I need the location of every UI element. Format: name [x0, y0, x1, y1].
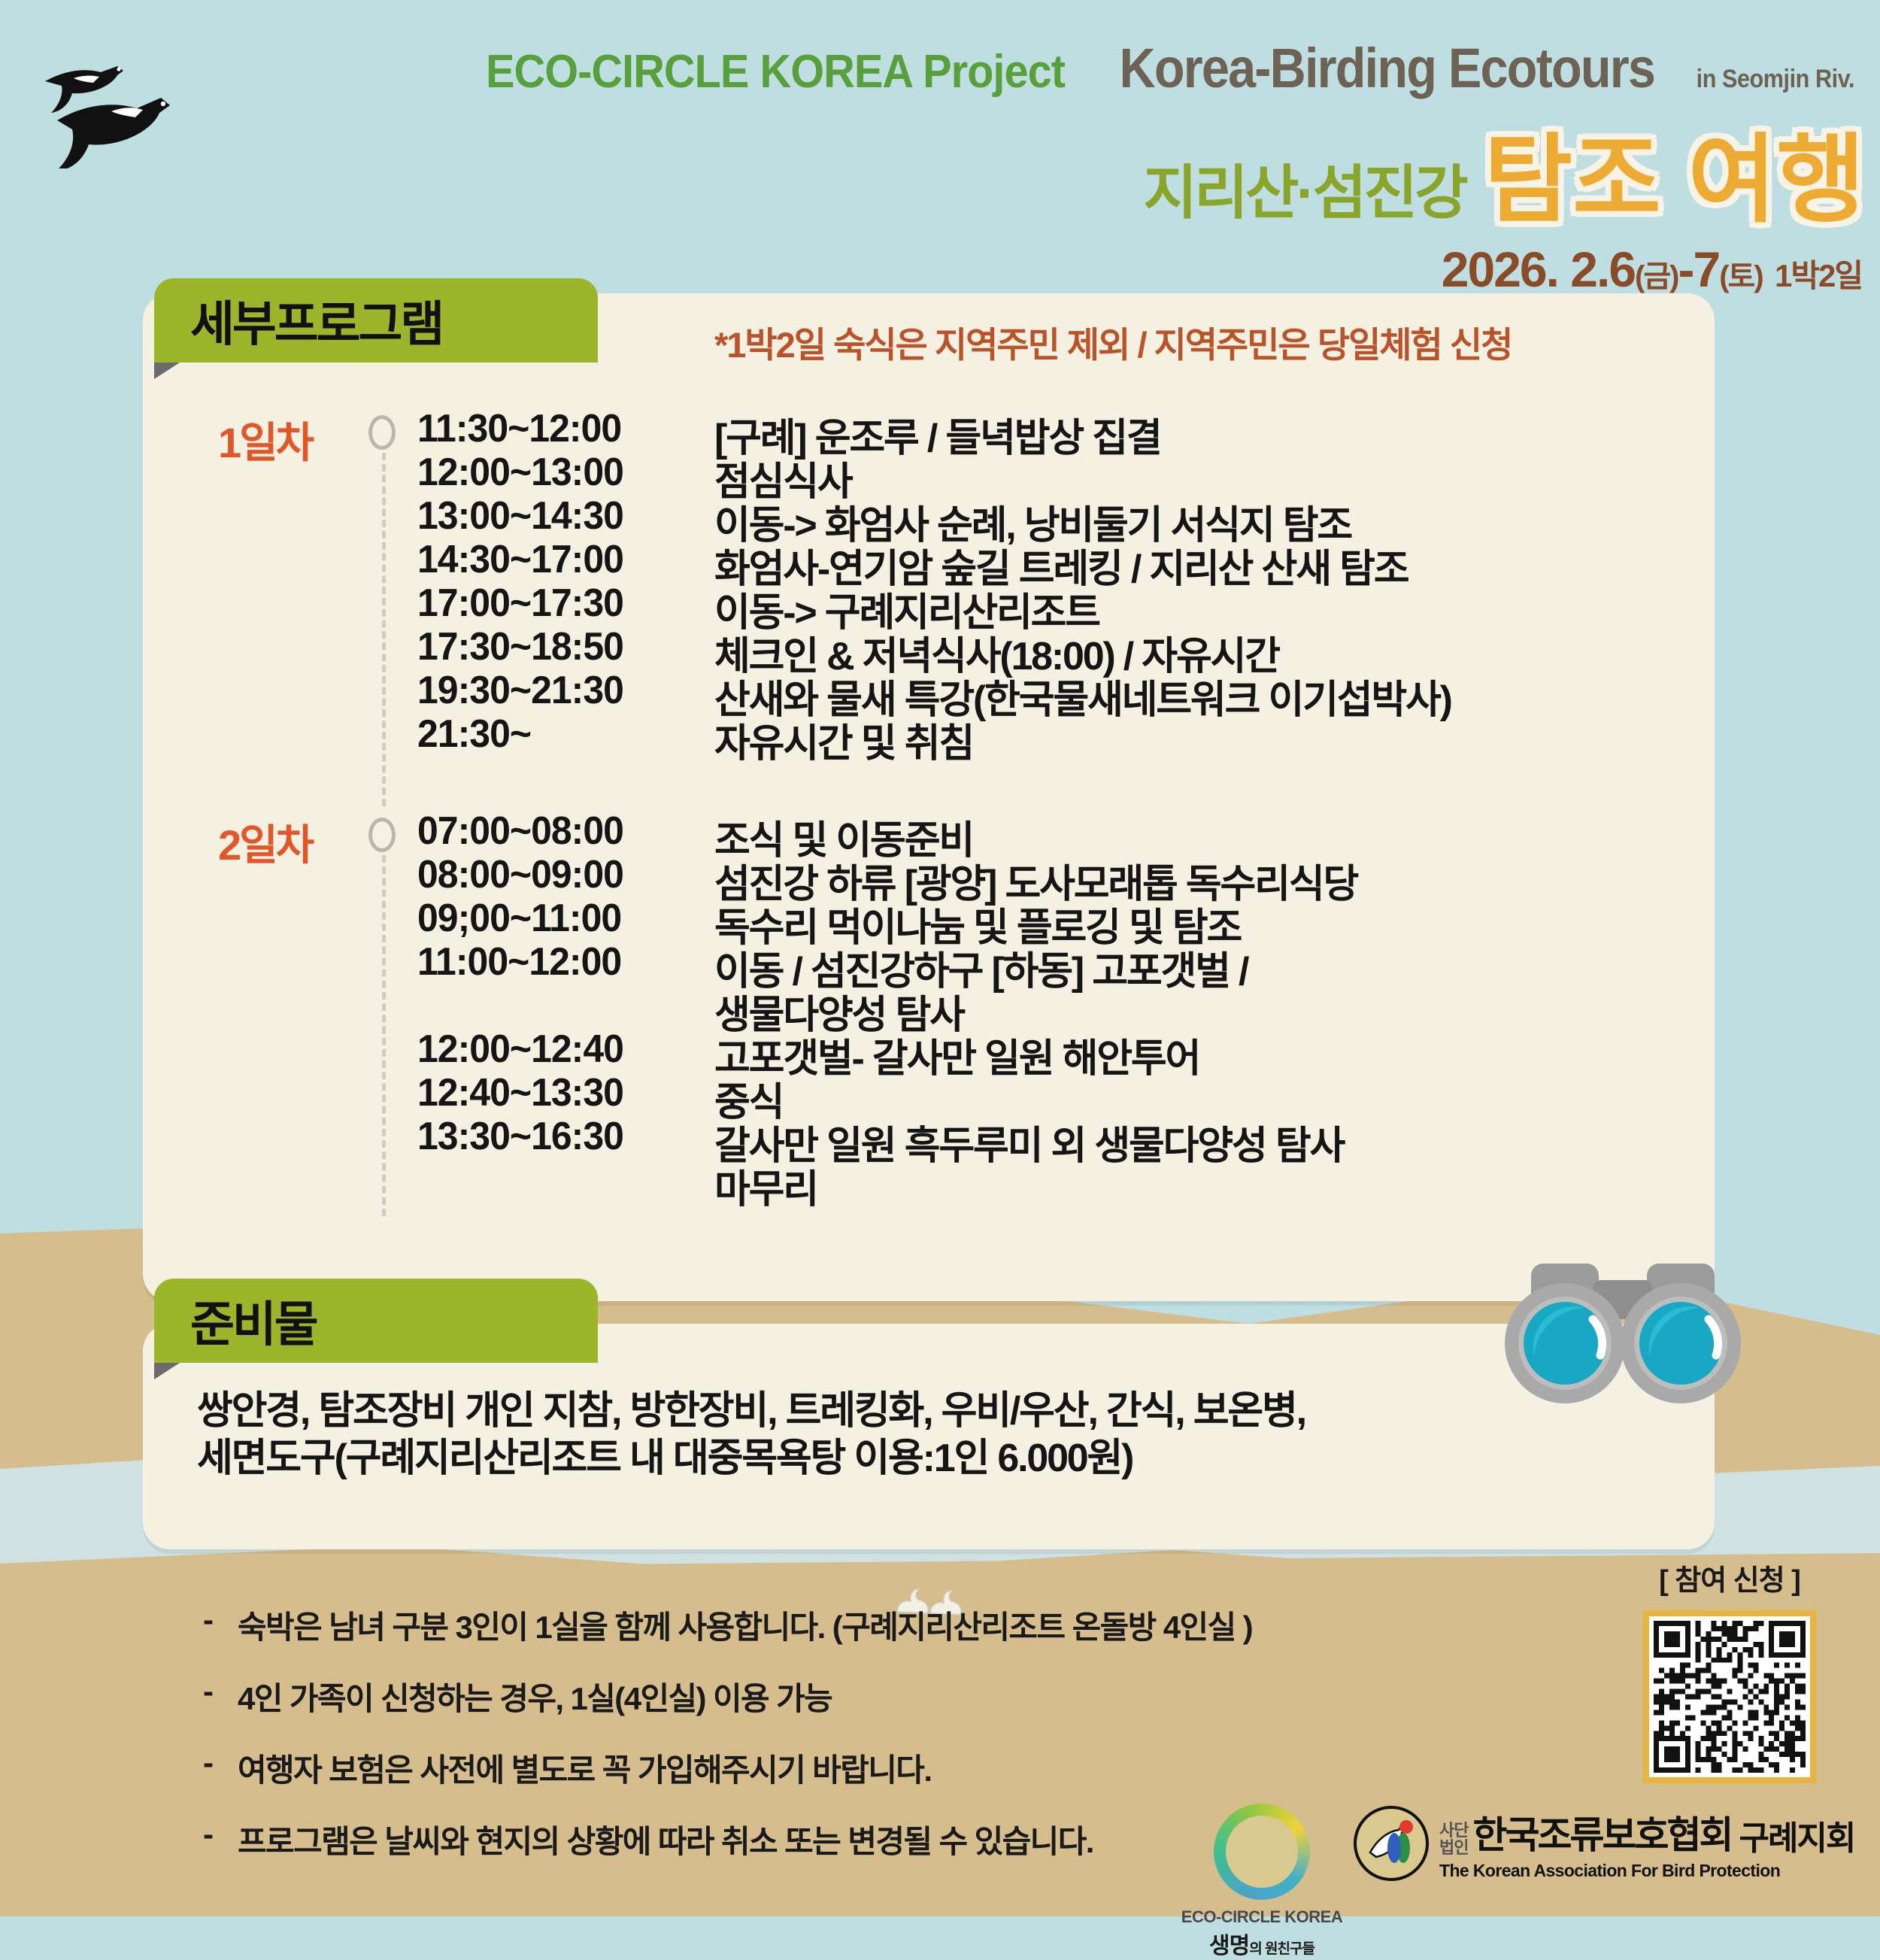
schedule-row-time: 17:00~17:30 — [417, 581, 702, 626]
schedule-row-desc: 고포갯벌- 갈사만 일원 해안투어 — [714, 1027, 1199, 1083]
qr-frame[interactable] — [1643, 1610, 1816, 1783]
qr-title: [ 참여 신청 ] — [1617, 1557, 1842, 1598]
schedule-row: 17:30~18:50체크인 & 저녁식사(18:00) / 자유시간 — [417, 624, 1451, 668]
logo-korean-bird-protection: 사단 법인 한국조류보호협회 구례지회 The Korean Associati… — [1354, 1805, 1854, 1881]
note-item: -여행자 보험은 사전에 별도로 꼭 가입해주시기 바랍니다. — [203, 1745, 1481, 1791]
day2-rows: 07:00~08:00조식 및 이동준비08:00~09:00섬진강 하류 [광… — [417, 809, 1357, 1201]
date-duration: 1박2일 — [1775, 258, 1862, 293]
schedule-row-time: 11:30~12:00 — [417, 406, 702, 451]
eco-logo-kr: 생명의 원친구들 — [1179, 1927, 1345, 1960]
schedule-row: 13:00~14:30이동-> 화엄사 순례, 낭비둘기 서식지 탐조 — [417, 493, 1451, 537]
eco-logo-kr-sub2: 친구들 — [1278, 1941, 1314, 1957]
note-item: -숙박은 남녀 구분 3인이 1실을 함께 사용합니다. (구례지리산리조트 온… — [203, 1602, 1481, 1648]
kabp-corp: 사단 법인 — [1439, 1822, 1468, 1859]
title-kr-main: 탐조 여행 — [1484, 102, 1865, 241]
header-english: ECO-CIRCLE KOREA Project Korea-Birding E… — [0, 36, 1880, 100]
day2-bullet-icon — [368, 818, 396, 852]
qr-block: [ 참여 신청 ] — [1617, 1557, 1842, 1783]
schedule-row-time: 21:30~ — [417, 711, 702, 757]
date-year-month: 2026. 2. — [1442, 241, 1609, 297]
note-text: 숙박은 남녀 구분 3인이 1실을 함께 사용합니다. (구례지리산리조트 온돌… — [238, 1602, 1252, 1648]
schedule-row-time: 07:00~08:00 — [417, 809, 702, 854]
qr-inner — [1649, 1616, 1810, 1777]
date-day2: 7 — [1693, 241, 1719, 297]
schedule-row-time: 11:00~12:00 — [417, 939, 702, 985]
day1-rows: 11:30~12:00[구례] 운조루 / 들녁밥상 집결12:00~13:00… — [417, 406, 1451, 755]
day1-bullet-icon — [368, 415, 396, 450]
tab-schedule: 세부프로그램 — [154, 278, 598, 363]
day1-label: 1일차 — [218, 409, 312, 470]
header-korean: 지리산·섬진강 탐조 여행 — [0, 102, 1880, 241]
schedule-row-time: 12:40~13:30 — [417, 1070, 702, 1115]
poster: ECO-CIRCLE KOREA Project Korea-Birding E… — [0, 0, 1880, 1916]
kabp-corp-line2: 법인 — [1439, 1839, 1468, 1856]
note-dash: - — [203, 1816, 238, 1852]
day2-timeline — [382, 855, 386, 1216]
date-day1: 6 — [1609, 241, 1635, 297]
schedule-row: 11:00~12:00이동 / 섬진강하구 [하동] 고포갯벌 / — [417, 939, 1357, 983]
eco-logo-en: ECO-CIRCLE KOREA — [1179, 1907, 1345, 1927]
binoculars-icon — [1495, 1261, 1751, 1411]
schedule-row: 19:30~21:30산새와 물새 특강(한국물새네트워크 이기섭박사) — [417, 668, 1451, 711]
note-item: -4인 가족이 신청하는 경우, 1실(4인실) 이용 가능 — [203, 1673, 1481, 1719]
qr-code-icon[interactable] — [1654, 1621, 1806, 1773]
note-dash: - — [203, 1673, 238, 1710]
schedule-row-time: 08:00~09:00 — [417, 852, 702, 897]
kabp-name-en: The Korean Association For Bird Protecti… — [1439, 1861, 1854, 1881]
logo-eco-circle-korea: ECO-CIRCLE KOREA 생명의 원친구들 — [1179, 1804, 1345, 1960]
kabp-branch: 구례지회 — [1739, 1811, 1854, 1859]
note-dash: - — [203, 1745, 238, 1781]
tab-schedule-label: 세부프로그램 — [190, 286, 442, 355]
tab-supplies-label: 준비물 — [190, 1286, 317, 1355]
eco-logo-kr-sub: 의 원 — [1249, 1941, 1277, 1957]
schedule-row-time: 13:30~16:30 — [417, 1114, 702, 1159]
day2-label: 2일차 — [218, 812, 312, 872]
date-separator: - — [1678, 241, 1694, 297]
schedule-row: 12:00~12:40고포갯벌- 갈사만 일원 해안투어 — [417, 1027, 1357, 1070]
schedule-row: 09;00~11:00독수리 먹이나눔 및 플로깅 및 탐조 — [417, 896, 1357, 939]
schedule-notice: *1박2일 숙식은 지역주민 제외 / 지역주민은 당일체험 신청 — [714, 316, 1512, 368]
title-en: Korea-Birding Ecotours — [1120, 36, 1655, 100]
title-kr-sub: 지리산·섬진강 — [1143, 146, 1466, 241]
kabp-text: 사단 법인 한국조류보호협회 구례지회 The Korean Associati… — [1439, 1805, 1854, 1881]
note-text: 4인 가족이 신청하는 경우, 1실(4인실) 이용 가능 — [238, 1673, 832, 1719]
day1-timeline — [382, 453, 386, 806]
note-dash: - — [203, 1602, 238, 1638]
kabp-mark-icon — [1354, 1806, 1429, 1881]
eco-logo-kr-main: 생명 — [1209, 1934, 1249, 1958]
schedule-row: 08:00~09:00섬진강 하류 [광양] 도사모래톱 독수리식당 — [417, 852, 1357, 896]
supplies-text: 쌍안경, 탐조장비 개인 지참, 방한장비, 트레킹화, 우비/우산, 간식, … — [197, 1388, 1305, 1483]
subtitle-en: in Seomjin Riv. — [1697, 65, 1854, 94]
date-day2-weekday: (토) — [1719, 260, 1762, 293]
tab-supplies: 준비물 — [154, 1279, 598, 1363]
schedule-row-time: 12:00~12:40 — [417, 1027, 702, 1072]
eco-circle-ring-icon — [1214, 1804, 1310, 1900]
schedule-row-desc: 자유시간 및 취침 — [714, 711, 973, 768]
kabp-name-row: 사단 법인 한국조류보호협회 구례지회 — [1439, 1805, 1854, 1859]
schedule-row: 11:30~12:00[구례] 운조루 / 들녁밥상 집결 — [417, 406, 1451, 450]
project-name-en: ECO-CIRCLE KOREA Project — [486, 45, 1065, 99]
schedule-row-time: 13:00~14:30 — [417, 493, 702, 539]
kabp-name: 한국조류보호협회 — [1472, 1805, 1731, 1859]
kabp-corp-line1: 사단 — [1439, 1822, 1468, 1839]
schedule-row: 14:30~17:00화엄사-연기암 숲길 트레킹 / 지리산 산새 탐조 — [417, 537, 1451, 581]
note-text: 여행자 보험은 사전에 별도로 꼭 가입해주시기 바랍니다. — [238, 1745, 931, 1791]
schedule-row: 07:00~08:00조식 및 이동준비 — [417, 809, 1357, 852]
schedule-row-time: 12:00~13:00 — [417, 450, 702, 495]
schedule-row-time: 09;00~11:00 — [417, 896, 702, 941]
schedule-row-time: 19:30~21:30 — [417, 668, 702, 713]
schedule-row-desc: 마무리 — [714, 1157, 817, 1214]
schedule-row-time: 14:30~17:00 — [417, 537, 702, 582]
date-day1-weekday: (금) — [1635, 260, 1678, 293]
schedule-row-time: 17:30~18:50 — [417, 624, 702, 669]
note-text: 프로그램은 날씨와 현지의 상황에 따라 취소 또는 변경될 수 있습니다. — [238, 1816, 1093, 1862]
schedule-row: 13:30~16:30갈사만 일원 흑두루미 외 생물다양성 탐사 — [417, 1114, 1357, 1157]
